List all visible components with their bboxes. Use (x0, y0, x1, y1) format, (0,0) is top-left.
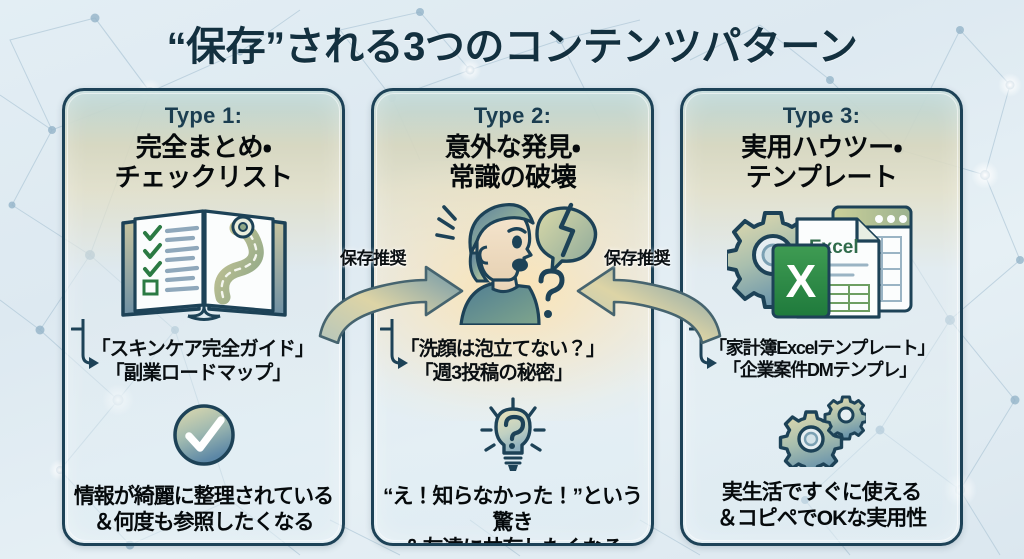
card-3-hero-icon-wrap: Excel X (683, 197, 960, 325)
arrow-left-group: 保存推奨 (318, 244, 468, 349)
card-2-mid-icon-wrap (374, 392, 651, 478)
card-type-1[interactable]: Type 1: 完全まとめ・ チェックリスト (62, 88, 345, 546)
card-1-hero-icon-wrap (65, 197, 342, 325)
card-3-summary-line2: ＆コピペでOKな実用性 (683, 506, 960, 532)
arrow-right-group: 保存推奨 (572, 244, 722, 349)
card-1-heading: 完全まとめ・ チェックリスト (65, 132, 342, 193)
check-circle-icon (170, 401, 238, 469)
arrow-right-label: 保存推奨 (604, 244, 670, 269)
card-1-example-2: 「副業ロードマップ」 (105, 361, 342, 385)
card-2-heading-line1: 意外な発見・ (445, 132, 580, 162)
page-title: “保存”される3つのコンテンツパターン (0, 14, 1024, 72)
card-1-mid-icon-wrap (65, 392, 342, 478)
card-1-type-label: Type 1: (65, 103, 342, 129)
card-2-type-label: Type 2: (374, 103, 651, 129)
card-3-example-2: 「企業案件DMテンプレ」 (723, 359, 960, 382)
gear-excel-spreadsheet-icon: Excel X (727, 197, 917, 325)
card-3-heading: 実用ハウツー・ テンプレート (683, 132, 960, 193)
excel-x-letter: X (785, 255, 816, 307)
card-1-summary-line2: ＆何度も参照したくなる (65, 510, 342, 536)
card-2-summary-line2: ＆友達に共有したくなる (374, 536, 651, 546)
card-2-heading: 意外な発見・ 常識の破壊 (374, 132, 651, 193)
lightbulb-question-icon (477, 396, 549, 474)
card-3-mid-icon-wrap (683, 388, 960, 474)
card-1-summary-line1: 情報が綺麗に整理されている (74, 485, 333, 508)
arrow-left-label: 保存推奨 (340, 244, 406, 269)
card-2-summary: “え！知らなかった！”という驚き ＆友達に共有したくなる (374, 484, 651, 546)
card-1-heading-line1: 完全まとめ・ (136, 132, 271, 162)
card-3-heading-line1: 実用ハウツー・ (741, 132, 902, 162)
card-1-heading-line2: チェックリスト (65, 162, 342, 192)
card-1-examples: 「スキンケア完全ガイド」 「副業ロードマップ」 (65, 337, 342, 386)
card-3-summary-line1: 実生活ですぐに使える (722, 481, 921, 504)
card-1-summary: 情報が綺麗に整理されている ＆何度も参照したくなる (65, 484, 342, 537)
card-2-heading-line2: 常識の破壊 (374, 162, 651, 192)
card-3-type-label: Type 3: (683, 103, 960, 129)
card-2-summary-line1: “え！知らなかった！”という驚き (383, 485, 642, 534)
card-3-summary: 実生活ですぐに使える ＆コピペでOKな実用性 (683, 480, 960, 533)
card-3-example-1: 「家計簿Excelテンプレート」 (709, 337, 960, 360)
elbow-connector-icon (71, 319, 101, 381)
gears-icon (778, 395, 866, 467)
infographic-canvas: “保存”される3つのコンテンツパターン Type 1: 完全まとめ・ チェックリ… (0, 0, 1024, 559)
open-book-checklist-roadmap-icon (113, 197, 295, 325)
card-3-heading-line2: テンプレート (683, 162, 960, 192)
card-3-examples: 「家計簿Excelテンプレート」 「企業案件DMテンプレ」 (683, 337, 960, 382)
card-1-example-1: 「スキンケア完全ガイド」 (91, 337, 342, 361)
card-2-example-2: 「週3投稿の秘密」 (414, 361, 651, 385)
card-type-3[interactable]: Type 3: 実用ハウツー・ テンプレート (680, 88, 963, 546)
